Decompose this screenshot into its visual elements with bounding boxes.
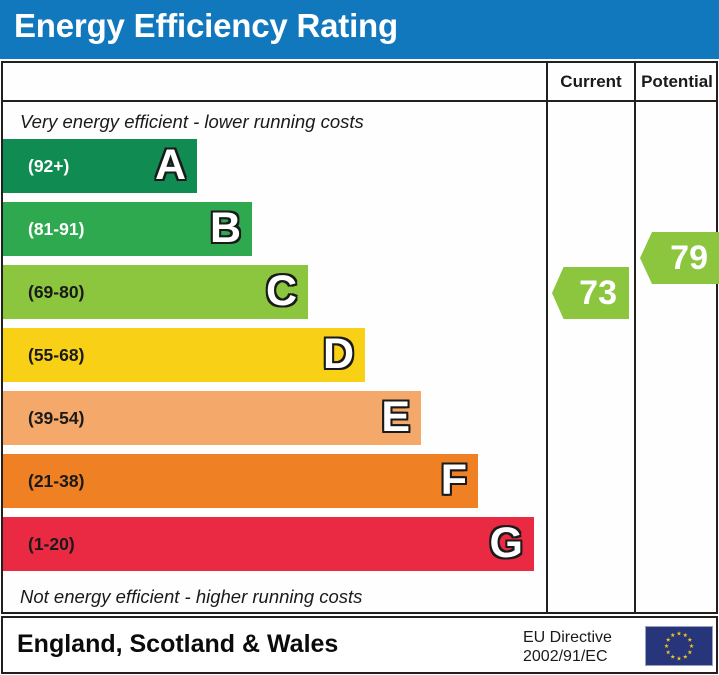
- band-range-label: (81-91): [28, 202, 84, 256]
- band-letter: B: [210, 202, 241, 256]
- band-d: (55-68) D: [3, 328, 365, 382]
- band-letter: G: [490, 517, 523, 571]
- band-letter: E: [381, 391, 410, 445]
- band-range-label: (69-80): [28, 265, 84, 319]
- band-range-label: (39-54): [28, 391, 84, 445]
- band-list: (92+) A (81-91) B (69-80) C (55-68) D (3…: [3, 139, 546, 580]
- band-range-label: (21-38): [28, 454, 84, 508]
- eu-directive-line-1: EU Directive: [523, 628, 633, 647]
- band-g: (1-20) G: [3, 517, 534, 571]
- rating-table: Current Potential Very energy efficient …: [1, 61, 718, 614]
- band-c: (69-80) C: [3, 265, 308, 319]
- band-letter: C: [266, 265, 297, 319]
- band-range-label: (1-20): [28, 517, 75, 571]
- caption-efficient: Very energy efficient - lower running co…: [3, 104, 546, 139]
- eu-directive-line-2: 2002/91/EC: [523, 647, 633, 666]
- column-header-potential: Potential: [634, 63, 718, 100]
- column-header-current: Current: [546, 63, 634, 100]
- band-range-label: (55-68): [28, 328, 84, 382]
- column-header-row: Current Potential: [3, 63, 716, 102]
- band-letter: D: [323, 328, 354, 382]
- column-divider-potential: [634, 102, 636, 612]
- eu-directive-label: EU Directive 2002/91/EC: [523, 628, 633, 666]
- chart-footer: England, Scotland & Wales EU Directive 2…: [1, 616, 718, 674]
- page-title: Energy Efficiency Rating: [14, 7, 398, 45]
- band-a: (92+) A: [3, 139, 197, 193]
- caption-inefficient: Not energy efficient - higher running co…: [3, 580, 546, 614]
- band-f: (21-38) F: [3, 454, 478, 508]
- band-letter: F: [441, 454, 467, 508]
- column-divider-current: [546, 102, 548, 612]
- eu-flag-icon: [645, 626, 713, 666]
- energy-efficiency-rating-chart: Energy Efficiency Rating Current Potenti…: [0, 0, 719, 675]
- band-e: (39-54) E: [3, 391, 421, 445]
- region-label: England, Scotland & Wales: [17, 630, 338, 659]
- band-range-label: (92+): [28, 139, 69, 193]
- band-b: (81-91) B: [3, 202, 252, 256]
- current-rating-arrow: 73: [552, 267, 629, 319]
- band-letter: A: [155, 139, 186, 193]
- chart-header-banner: Energy Efficiency Rating: [0, 0, 719, 59]
- potential-rating-arrow: 79: [640, 232, 719, 284]
